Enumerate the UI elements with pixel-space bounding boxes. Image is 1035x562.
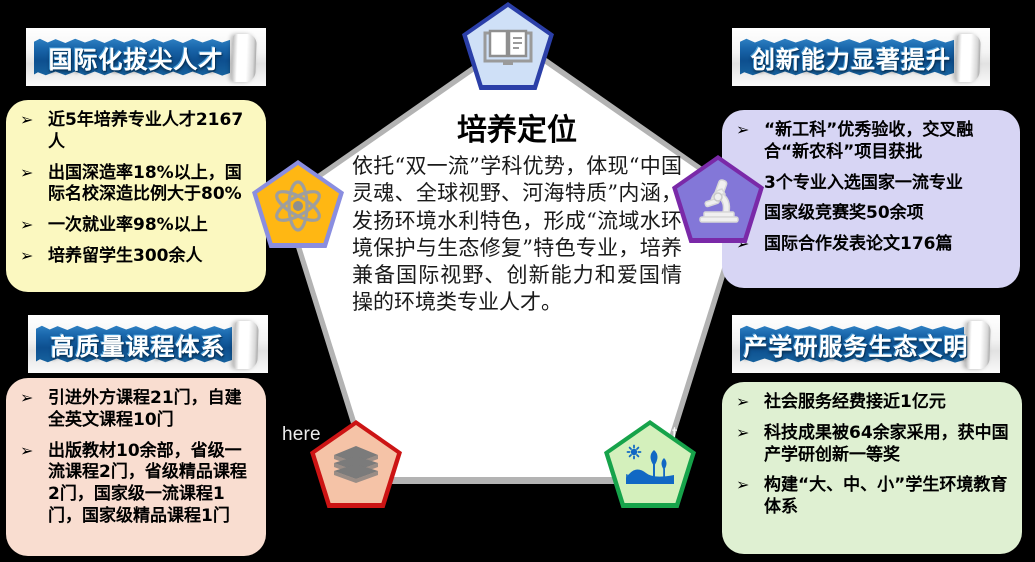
list-item: ➢培养留学生300余人 (14, 246, 256, 268)
banner-label-top-left: 国际化拔尖人才 (46, 28, 226, 86)
list-item-text: 出国深造率18%以上，国际名校深造比例大于80% (48, 163, 242, 205)
node-eco-landscape (604, 420, 696, 508)
bullet-arrow-icon: ➢ (20, 215, 33, 235)
banner-curl (231, 34, 257, 82)
atom-icon (271, 179, 325, 233)
banner-curl (233, 321, 259, 369)
banner-top-left: 国际化拔尖人才 (26, 28, 266, 86)
list-item-text: 国际合作发表论文176篇 (764, 234, 953, 254)
bullet-arrow-icon: ➢ (20, 110, 33, 130)
list-item: ➢科技成果被64余家采用，获中国产学研创新一等奖 (730, 423, 1012, 467)
infographic-canvas: 培养定位 依托“双一流”学科优势，体现“中国灵魂、全球视野、河海特质”内涵，发扬… (0, 0, 1035, 562)
panel-bottom-left: ➢引进外方课程21门，自建全英文课程10门 ➢出版教材10余部，省级一流课程2门… (6, 378, 266, 556)
list-item: ➢国际合作发表论文176篇 (730, 234, 1010, 256)
list-item: ➢3个专业入选国家一流专业 (730, 173, 1010, 195)
panel-top-left: ➢近5年培养专业人才2167人 ➢出国深造率18%以上，国际名校深造比例大于80… (6, 100, 266, 292)
bullet-arrow-icon: ➢ (736, 423, 749, 443)
node-open-book (462, 2, 554, 90)
bullet-arrow-icon: ➢ (736, 475, 749, 495)
bullet-arrow-icon: ➢ (20, 163, 33, 183)
banner-bottom-left: 高质量课程体系 (28, 315, 268, 373)
node-atom (252, 160, 344, 248)
open-book-icon (483, 29, 533, 67)
banner-label-top-right: 创新能力显著提升 (752, 28, 950, 86)
bullet-arrow-icon: ➢ (20, 441, 33, 461)
list-item-text: 出版教材10余部，省级一流课程2门，省级精品课程2门，国家级一流课程1门，国家级… (48, 441, 247, 526)
book-stack-icon (330, 444, 382, 488)
list-item: ➢出版教材10余部，省级一流课程2门，省级精品课程2门，国家级一流课程1门，国家… (14, 441, 256, 528)
list-item-text: 近5年培养专业人才2167人 (48, 110, 243, 152)
bullet-arrow-icon: ➢ (736, 392, 749, 412)
list-item-text: 科技成果被64余家采用，获中国产学研创新一等奖 (764, 423, 1009, 465)
list-item: ➢引进外方课程21门，自建全英文课程10门 (14, 388, 256, 432)
banner-top-right: 创新能力显著提升 (732, 28, 990, 86)
center-title: 培养定位 (352, 105, 682, 149)
banner-curl (965, 321, 991, 369)
center-body: 依托“双一流”学科优势，体现“中国灵魂、全球视野、河海特质”内涵，发扬环境水利特… (352, 153, 682, 317)
bullet-list-bottom-right: ➢社会服务经费接近1亿元 ➢科技成果被64余家采用，获中国产学研创新一等奖 ➢构… (730, 392, 1012, 519)
bullet-list-top-left: ➢近5年培养专业人才2167人 ➢出国深造率18%以上，国际名校深造比例大于80… (14, 110, 256, 268)
list-item: ➢近5年培养专业人才2167人 (14, 110, 256, 154)
list-item: ➢一次就业率98%以上 (14, 215, 256, 237)
list-item-text: 培养留学生300余人 (48, 246, 203, 266)
list-item: ➢构建“大、中、小”学生环境教育体系 (730, 475, 1012, 519)
banner-bottom-right: 产学研服务生态文明 (732, 315, 1000, 373)
list-item-text: 构建“大、中、小”学生环境教育体系 (764, 475, 1007, 517)
bullet-list-bottom-left: ➢引进外方课程21门，自建全英文课程10门 ➢出版教材10余部，省级一流课程2门… (14, 388, 256, 528)
bullet-arrow-icon: ➢ (20, 246, 33, 266)
list-item: ➢“新工科”优秀验收，交叉融合“新农科”项目获批 (730, 120, 1010, 164)
list-item-text: 一次就业率98%以上 (48, 215, 208, 235)
bullet-arrow-icon: ➢ (20, 388, 33, 408)
node-book-stack (310, 420, 402, 508)
banner-label-bottom-left: 高质量课程体系 (48, 315, 228, 373)
bullet-list-top-right: ➢“新工科”优秀验收，交叉融合“新农科”项目获批 ➢3个专业入选国家一流专业 ➢… (730, 120, 1010, 256)
list-item-text: 社会服务经费接近1亿元 (764, 392, 946, 412)
node-microscope (672, 155, 764, 243)
eco-landscape-icon (624, 444, 676, 488)
list-item-text: 引进外方课程21门，自建全英文课程10门 (48, 388, 242, 430)
list-item-text: 3个专业入选国家一流专业 (764, 173, 963, 193)
list-item: ➢出国深造率18%以上，国际名校深造比例大于80% (14, 163, 256, 207)
list-item-text: 国家级竞赛奖50余项 (764, 203, 924, 223)
banner-curl (955, 34, 981, 82)
list-item: ➢国家级竞赛奖50余项 (730, 203, 1010, 225)
list-item-text: “新工科”优秀验收，交叉融合“新农科”项目获批 (764, 120, 973, 162)
banner-label-bottom-right: 产学研服务生态文明 (752, 315, 960, 373)
list-item: ➢社会服务经费接近1亿元 (730, 392, 1012, 414)
panel-bottom-right: ➢社会服务经费接近1亿元 ➢科技成果被64余家采用，获中国产学研创新一等奖 ➢构… (722, 382, 1022, 554)
center-pentagon-text: 培养定位 依托“双一流”学科优势，体现“中国灵魂、全球视野、河海特质”内涵，发扬… (352, 105, 682, 435)
microscope-icon (693, 176, 743, 226)
bullet-arrow-icon: ➢ (736, 120, 749, 140)
panel-top-right: ➢“新工科”优秀验收，交叉融合“新农科”项目获批 ➢3个专业入选国家一流专业 ➢… (722, 110, 1020, 288)
